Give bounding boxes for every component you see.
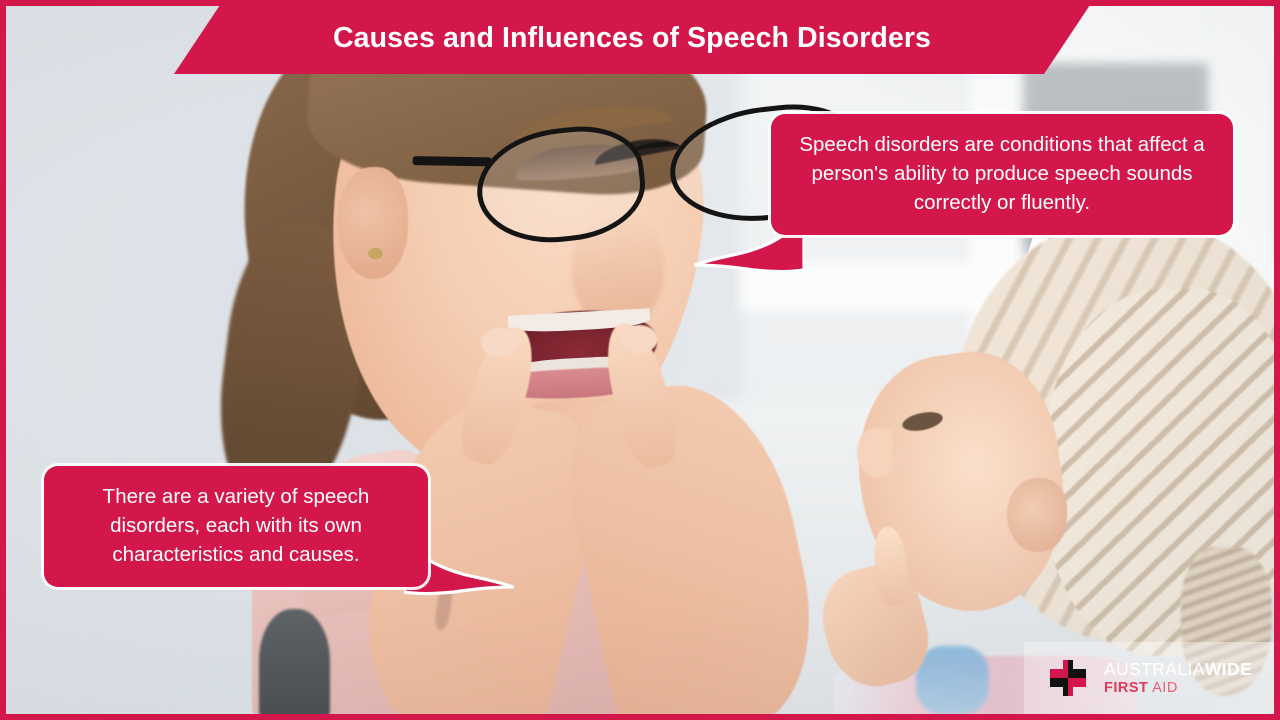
bubble-top-right: Speech disorders are conditions that aff…: [771, 114, 1233, 235]
brand-logo[interactable]: AUSTRALIAWIDE FIRST AID: [1024, 642, 1274, 714]
speech-therapist-woman: [145, 13, 855, 714]
brand-name-wide: WIDE: [1205, 659, 1252, 679]
eyeglass-lens-left: [472, 121, 650, 251]
bubble-top-right-text: Speech disorders are conditions that aff…: [793, 130, 1211, 217]
eyeglass-temple-arm: [412, 156, 491, 166]
brand-name-line2: FIRST AID: [1104, 681, 1252, 696]
brand-name-australia: AUSTRALIA: [1104, 659, 1205, 679]
chair-backrest: [259, 609, 330, 714]
brand-name-first: FIRST: [1104, 680, 1148, 696]
poster-frame: Causes and Influences of Speech Disorder…: [0, 0, 1280, 720]
bubble-bottom-left-text: There are a variety of speech disorders,…: [66, 482, 406, 569]
bubble-bottom-left: There are a variety of speech disorders,…: [44, 466, 428, 587]
header-banner: Causes and Influences of Speech Disorder…: [174, 6, 1090, 74]
australia-wide-cross-icon: [1046, 656, 1090, 700]
brand-name-aid: AID: [1148, 680, 1177, 696]
woman-ear: [337, 167, 408, 279]
poster-stage: Causes and Influences of Speech Disorder…: [6, 6, 1274, 714]
woman-right-fingernail: [620, 325, 658, 353]
woman-left-fingernail: [481, 328, 519, 356]
child-shirt-pattern: [916, 646, 989, 714]
brand-name-line1: AUSTRALIAWIDE: [1104, 660, 1252, 678]
child-ear: [1007, 478, 1066, 552]
child-nose: [857, 428, 894, 478]
background-photo: [6, 6, 1274, 714]
page-title: Causes and Influences of Speech Disorder…: [333, 22, 931, 57]
brand-logo-text: AUSTRALIAWIDE FIRST AID: [1100, 660, 1252, 695]
